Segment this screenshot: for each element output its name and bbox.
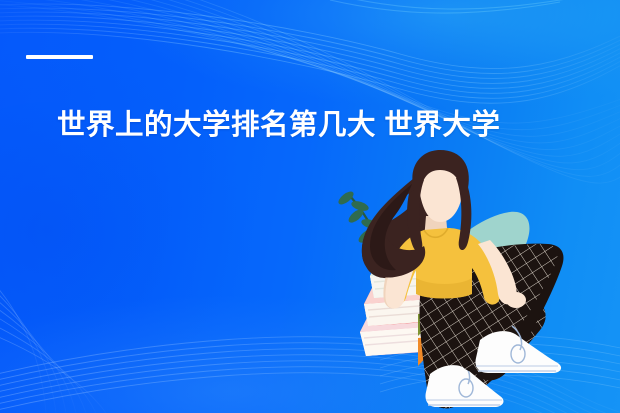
- accent-rule: [26, 55, 93, 59]
- banner-image: 世界上的大学排名第几大 世界大学: [0, 0, 620, 413]
- page-title: 世界上的大学排名第几大 世界大学: [57, 106, 577, 144]
- hand: [506, 292, 526, 308]
- illustration-woman-sitting-on-books: [320, 148, 620, 413]
